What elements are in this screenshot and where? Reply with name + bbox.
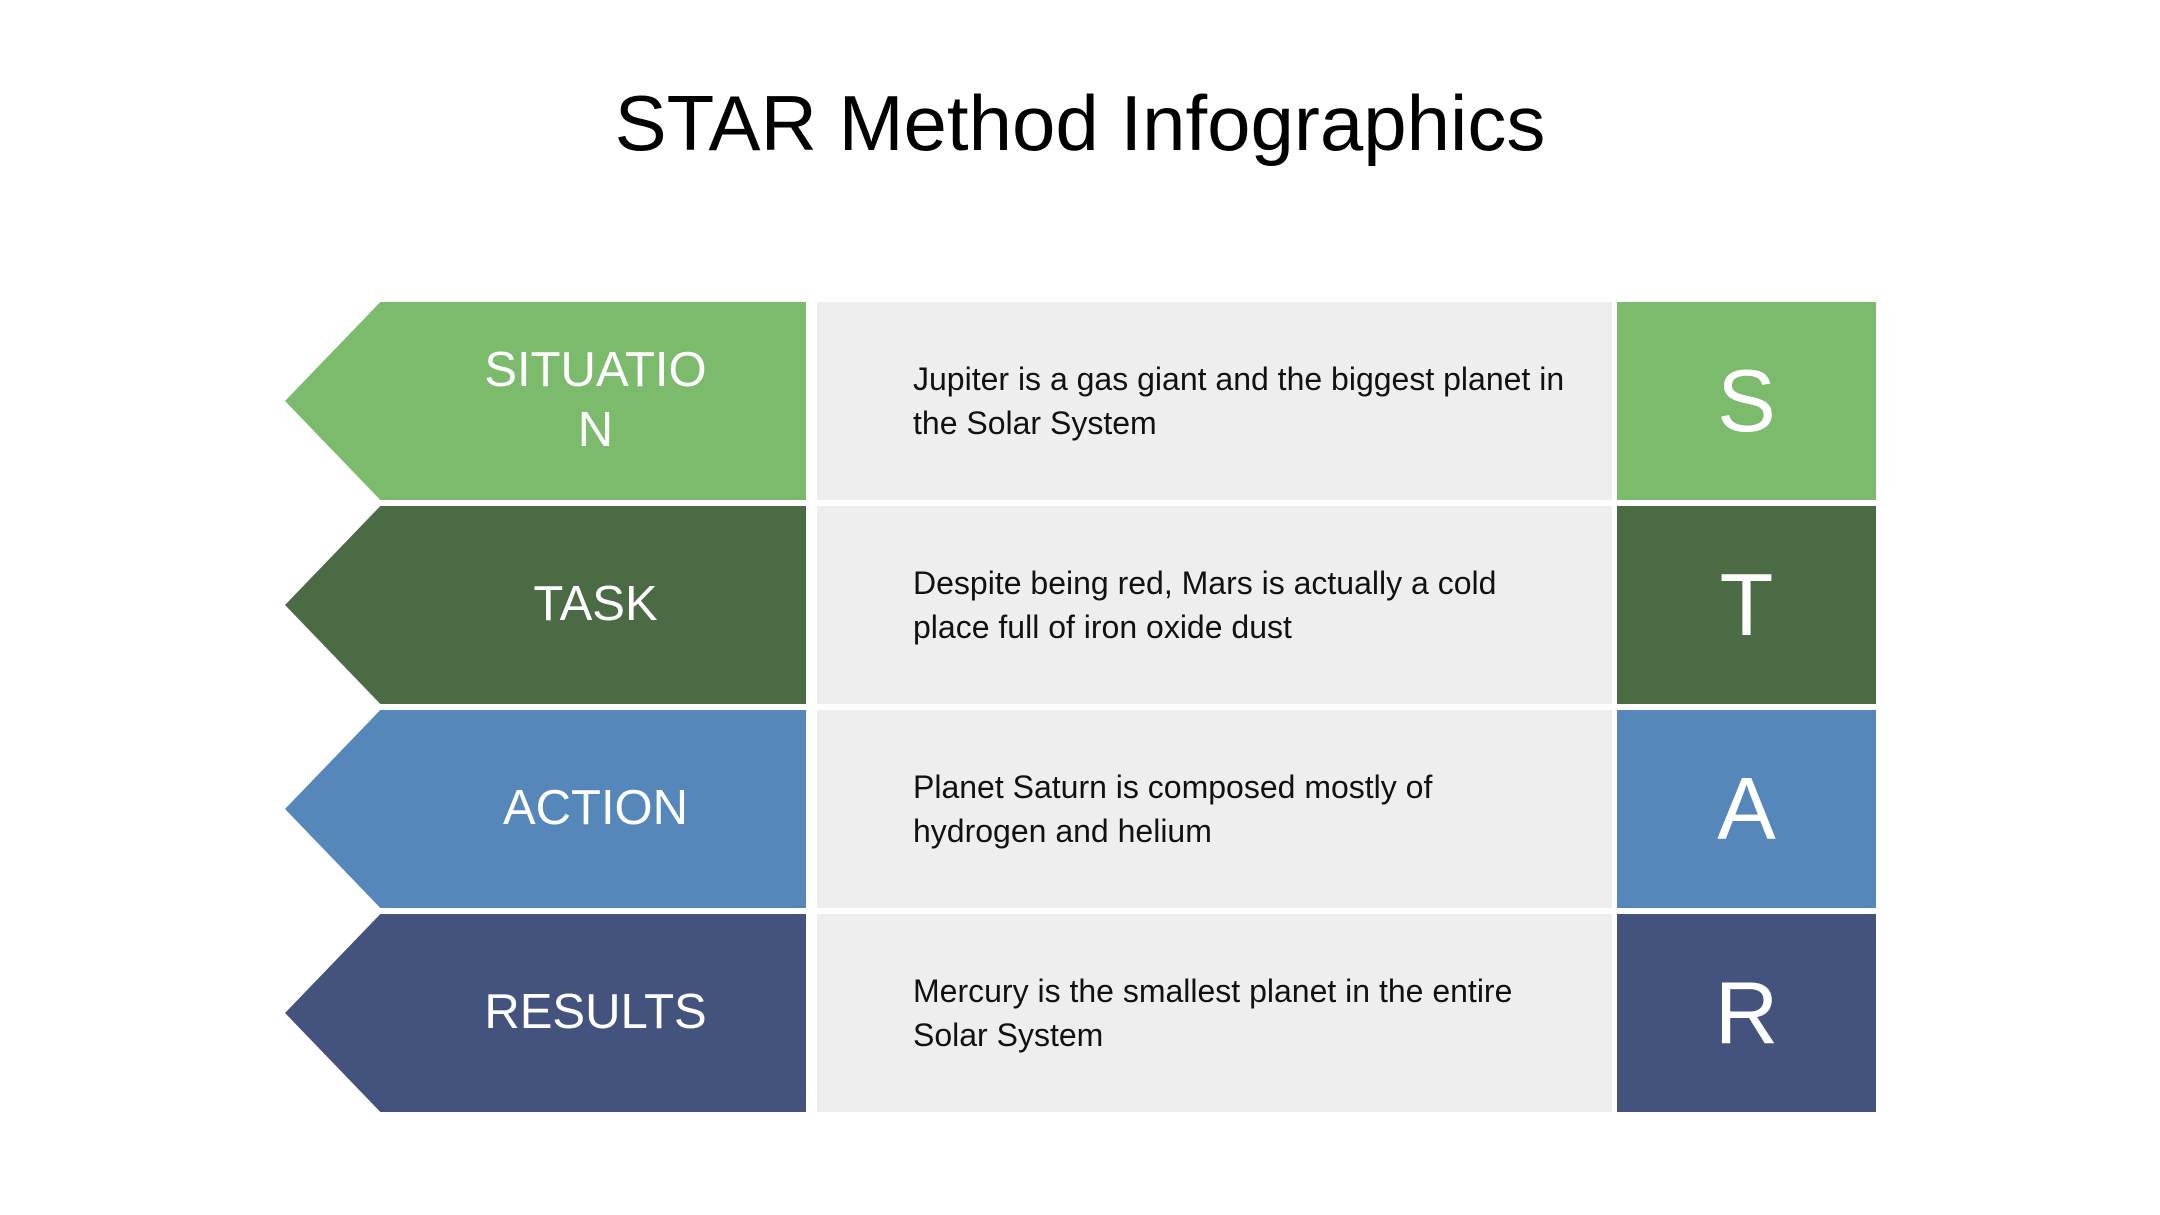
description-panel-task: Despite being red, Mars is actually a co… [817,506,1612,704]
chevron-label-action[interactable]: ACTION [285,710,806,908]
letter-box-r[interactable]: R [1617,914,1876,1112]
chevron-label-results[interactable]: RESULTS [285,914,806,1112]
letter-glyph: S [1717,357,1776,445]
chevron-label-text: TASK [468,575,724,635]
letter-box-t[interactable]: T [1617,506,1876,704]
description-text: Mercury is the smallest planet in the en… [913,969,1572,1057]
letter-box-s[interactable]: S [1617,302,1876,500]
letter-glyph: A [1717,765,1776,853]
star-row-situation: SITUATION Jupiter is a gas giant and the… [0,302,2160,500]
description-panel-action: Planet Saturn is composed mostly of hydr… [817,710,1612,908]
description-panel-results: Mercury is the smallest planet in the en… [817,914,1612,1112]
star-method-slide: STAR Method Infographics SITUATION Jupit… [0,0,2160,1215]
chevron-label-task[interactable]: TASK [285,506,806,704]
chevron-label-text: SITUATION [468,341,724,461]
chevron-label-text: ACTION [468,779,724,839]
letter-box-a[interactable]: A [1617,710,1876,908]
star-row-results: RESULTS Mercury is the smallest planet i… [0,914,2160,1112]
star-rows-container: SITUATION Jupiter is a gas giant and the… [0,302,2160,1118]
page-title: STAR Method Infographics [0,84,2160,162]
description-text: Despite being red, Mars is actually a co… [913,561,1572,649]
chevron-label-situation[interactable]: SITUATION [285,302,806,500]
chevron-label-text: RESULTS [468,983,724,1043]
star-row-task: TASK Despite being red, Mars is actually… [0,506,2160,704]
star-row-action: ACTION Planet Saturn is composed mostly … [0,710,2160,908]
letter-glyph: T [1720,561,1774,649]
description-panel-situation: Jupiter is a gas giant and the biggest p… [817,302,1612,500]
description-text: Planet Saturn is composed mostly of hydr… [913,765,1572,853]
description-text: Jupiter is a gas giant and the biggest p… [913,357,1572,445]
letter-glyph: R [1715,969,1779,1057]
